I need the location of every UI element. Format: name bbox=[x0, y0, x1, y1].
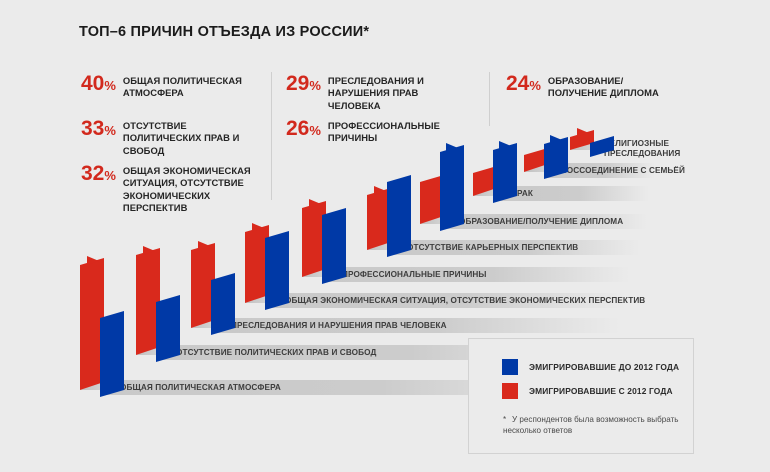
bar-blue-3 bbox=[211, 273, 235, 335]
bar-group-10 bbox=[570, 128, 618, 157]
bar-group-6 bbox=[367, 175, 417, 257]
infographic-page: ТОП–6 ПРИЧИН ОТЪЕЗДА ИЗ РОССИИ* 40% ОБЩА… bbox=[0, 0, 770, 472]
bar-blue-8 bbox=[493, 143, 517, 203]
bar-blue-6 bbox=[387, 175, 411, 257]
legend-item-1: ЭМИГРИРОВАВШИЕ ДО 2012 ГОДА bbox=[502, 359, 679, 375]
bar-group-4 bbox=[245, 223, 295, 310]
bar-blue-1 bbox=[100, 311, 124, 397]
bar-group-1 bbox=[80, 256, 130, 397]
bar-group-7 bbox=[420, 143, 470, 231]
bar-blue-7 bbox=[440, 145, 464, 231]
bar-blue-5 bbox=[322, 208, 346, 284]
bar-blue-4 bbox=[265, 231, 289, 310]
legend-swatch-red-icon bbox=[502, 383, 518, 399]
legend-label-2: ЭМИГРИРОВАВШИЕ С 2012 ГОДА bbox=[529, 386, 673, 396]
footnote-text: У респондентов была возможность выбрать … bbox=[503, 415, 679, 435]
legend-box: ЭМИГРИРОВАВШИЕ ДО 2012 ГОДА ЭМИГРИРОВАВШ… bbox=[468, 338, 694, 454]
bar-blue-2 bbox=[156, 295, 180, 362]
legend-item-2: ЭМИГРИРОВАВШИЕ С 2012 ГОДА bbox=[502, 383, 673, 399]
legend-footnote: *У респондентов была возможность выбрать… bbox=[503, 414, 683, 436]
footnote-star: * bbox=[503, 414, 512, 425]
legend-label-1: ЭМИГРИРОВАВШИЕ ДО 2012 ГОДА bbox=[529, 362, 679, 372]
bar-group-9 bbox=[524, 135, 574, 179]
bar-group-2 bbox=[136, 246, 186, 362]
bar-group-8 bbox=[473, 141, 523, 203]
bar-group-3 bbox=[191, 241, 241, 335]
legend-swatch-blue-icon bbox=[502, 359, 518, 375]
bar-group-5 bbox=[302, 199, 352, 284]
bar-blue-9 bbox=[544, 137, 568, 179]
